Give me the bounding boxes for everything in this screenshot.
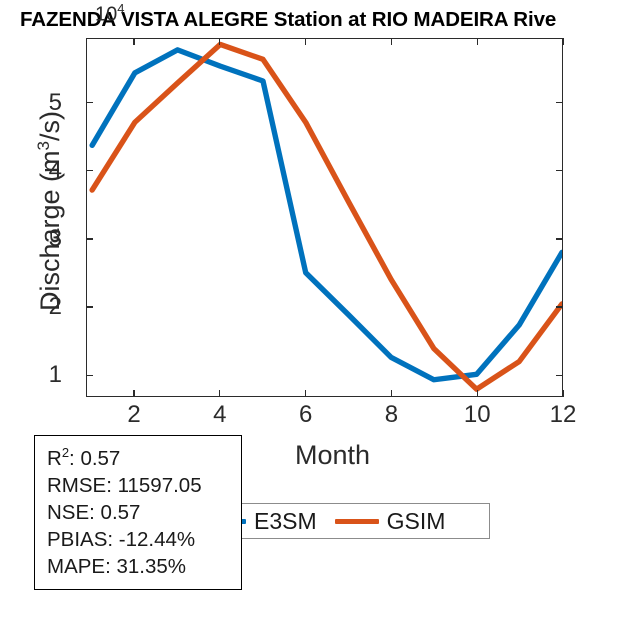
chart-page: FAZENDA VISTA ALEGRE Station at RIO MADE… [0, 0, 625, 625]
series-line-gsim [92, 44, 562, 389]
y-axis-label: Discharge (m3/s) [34, 41, 66, 381]
statistics-box: R2: 0.57 RMSE: 11597.05 NSE: 0.57 PBIAS:… [34, 435, 242, 590]
stat-r2-exponent: 2 [62, 445, 69, 460]
x-tick-4 [219, 38, 220, 45]
x-tick-6 [305, 38, 306, 45]
y-tick-4 [86, 170, 93, 171]
x-tick-10 [477, 390, 478, 397]
y-tick-3 [86, 238, 93, 239]
y-tick-1 [556, 375, 563, 376]
x-tick-label-6: 6 [299, 402, 312, 428]
stat-r2: R2: 0.57 [47, 444, 241, 472]
legend-label-e3sm: E3SM [254, 508, 317, 535]
x-tick-2 [133, 38, 134, 45]
x-tick-label-10: 10 [464, 402, 491, 428]
y-axis-label-exponent: 3 [34, 141, 53, 150]
y-tick-2 [556, 306, 563, 307]
axis-multiplier-label: 104 [95, 2, 124, 25]
x-tick-label-8: 8 [385, 402, 398, 428]
legend-swatch-gsim-icon [335, 519, 379, 524]
series-group [92, 44, 562, 389]
y-axis-label-post: /s) [35, 111, 65, 141]
y-tick-4 [556, 170, 563, 171]
stat-mape: MAPE: 31.35% [47, 553, 241, 580]
y-tick-3 [556, 238, 563, 239]
y-tick-1 [86, 375, 93, 376]
y-tick-5 [556, 102, 563, 103]
x-tick-label-2: 2 [127, 402, 140, 428]
stat-pbias: PBIAS: -12.44% [47, 526, 241, 553]
plot-svg [87, 39, 562, 396]
stat-rmse: RMSE: 11597.05 [47, 472, 241, 499]
plot-area [86, 38, 563, 397]
y-tick-2 [86, 306, 93, 307]
x-tick-12 [562, 390, 563, 397]
legend[interactable]: E3SMGSIM [241, 503, 490, 539]
y-tick-5 [86, 102, 93, 103]
x-tick-6 [305, 390, 306, 397]
legend-entry-e3sm[interactable]: E3SM [242, 504, 329, 538]
y-axis-label-pre: Discharge (m [35, 150, 65, 311]
legend-entry-gsim[interactable]: GSIM [329, 504, 458, 538]
stat-r2-value: : 0.57 [69, 447, 120, 470]
x-tick-8 [391, 390, 392, 397]
x-tick-label-4: 4 [213, 402, 226, 428]
stat-r2-label: R [47, 447, 62, 470]
x-tick-4 [219, 390, 220, 397]
x-tick-label-12: 12 [550, 402, 577, 428]
axis-multiplier-base: 10 [95, 4, 117, 26]
axis-multiplier-exponent: 4 [117, 1, 124, 16]
legend-label-gsim: GSIM [387, 508, 446, 535]
stat-nse: NSE: 0.57 [47, 499, 241, 526]
x-tick-2 [133, 390, 134, 397]
x-tick-12 [562, 38, 563, 45]
x-tick-10 [477, 38, 478, 45]
x-tick-8 [391, 38, 392, 45]
